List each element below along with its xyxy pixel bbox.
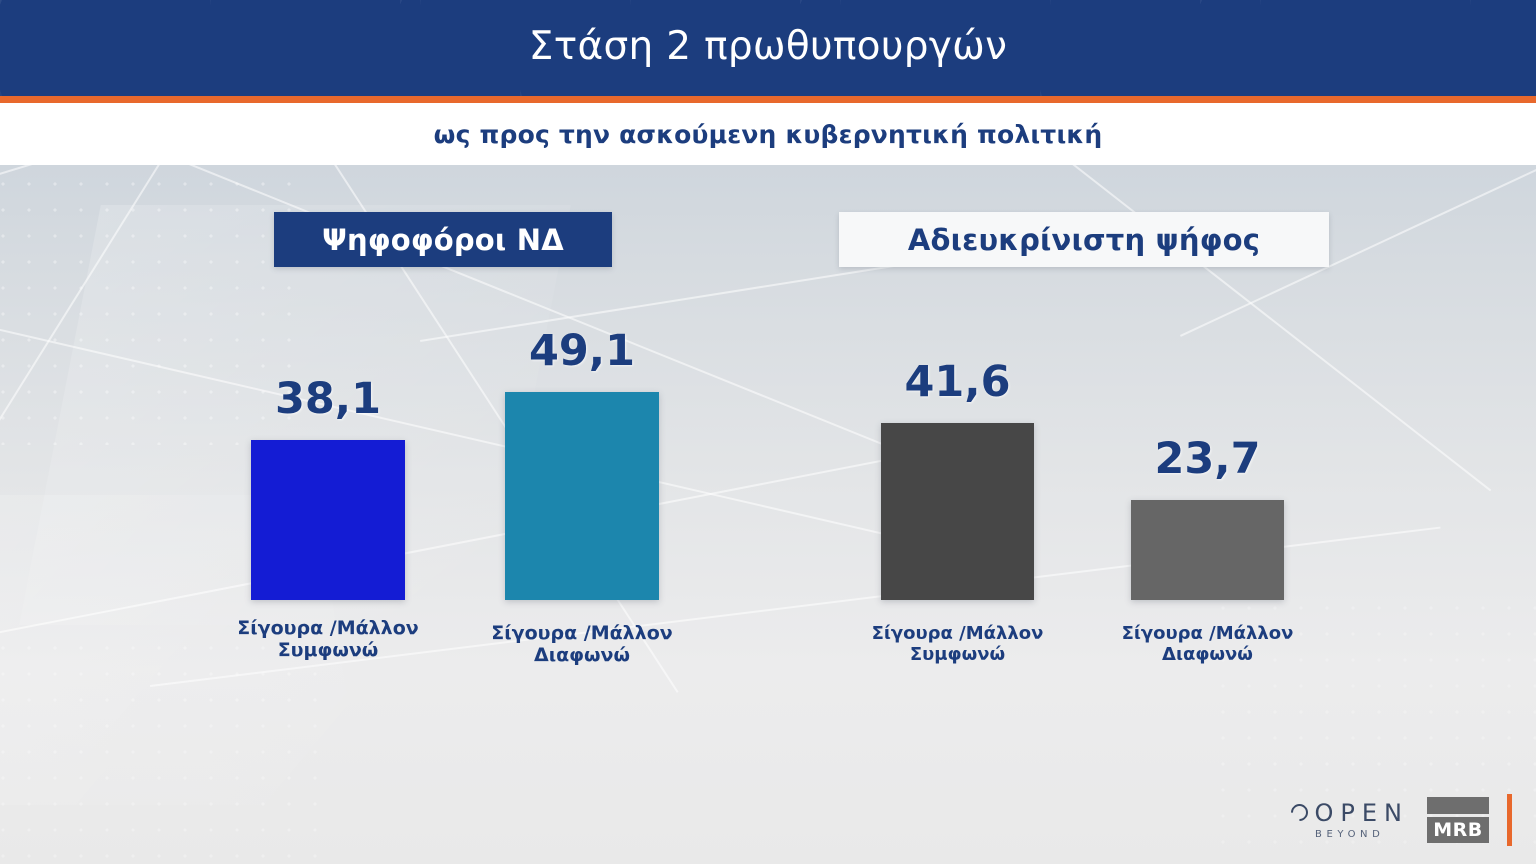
bar-label-nd-agree: Σίγουρα /Μάλλον Συμφωνώ [201, 617, 455, 662]
bar-value-nd-disagree: 49,1 [505, 326, 659, 376]
group-title-nd-voters: Ψηφοφόροι ΝΔ [274, 212, 612, 267]
bar-value-undecided-disagree: 23,7 [1131, 434, 1284, 484]
bar-undecided-agree[interactable] [881, 423, 1034, 600]
open-logo-text: OPEN [1315, 801, 1409, 825]
bar-label-nd-disagree: Σίγουρα /Μάλλον Διαφωνώ [455, 622, 709, 667]
group-title-undecided: Αδιευκρίνιστη ψήφος [839, 212, 1329, 267]
infographic-slide: Στάση 2 πρωθυπουργών ως προς την ασκούμε… [0, 0, 1536, 864]
bar-label-undecided-agree: Σίγουρα /Μάλλον Συμφωνώ [831, 623, 1084, 665]
chart-canvas: Ψηφοφόροι ΝΔ Αδιευκρίνιστη ψήφος 38,1 Σί… [0, 165, 1536, 864]
bar-nd-disagree[interactable] [505, 392, 659, 600]
bar-label-undecided-disagree: Σίγουρα /Μάλλον Διαφωνώ [1081, 623, 1334, 665]
accent-stripe [0, 96, 1536, 103]
group-title-label: Ψηφοφόροι ΝΔ [322, 223, 564, 257]
logo-group: OPEN BEYOND MRB [1291, 794, 1512, 846]
accent-tick [1507, 794, 1512, 846]
mrb-logo: MRB [1427, 797, 1489, 843]
subtitle-band: ως προς την ασκούμενη κυβερνητική πολιτι… [0, 103, 1536, 165]
page-title: Στάση 2 πρωθυπουργών [0, 0, 1536, 96]
open-circle-icon [1287, 800, 1311, 824]
group-title-label: Αδιευκρίνιστη ψήφος [908, 223, 1260, 257]
background-dots-bottom [0, 635, 320, 864]
bar-nd-agree[interactable] [251, 440, 405, 600]
mrb-logo-bar [1427, 797, 1489, 814]
page-subtitle: ως προς την ασκούμενη κυβερνητική πολιτι… [434, 120, 1103, 149]
open-logo-wordmark: OPEN [1291, 801, 1409, 825]
bar-value-undecided-agree: 41,6 [881, 357, 1034, 407]
open-beyond-logo: OPEN BEYOND [1291, 801, 1409, 840]
bar-value-nd-agree: 38,1 [251, 374, 405, 424]
beyond-logo-text: BEYOND [1315, 829, 1384, 840]
mrb-logo-text: MRB [1427, 817, 1489, 843]
bar-undecided-disagree[interactable] [1131, 500, 1284, 600]
